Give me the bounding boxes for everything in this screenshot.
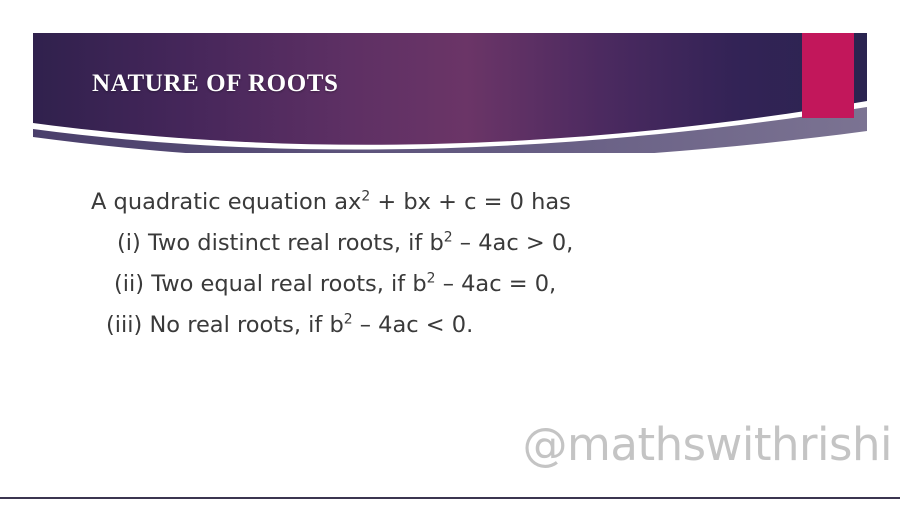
item-2-label: (ii) Two equal real roots, if b xyxy=(114,271,427,297)
intro-text-before: A quadratic equation ax xyxy=(91,189,361,215)
watermark-handle: @mathswithrishi xyxy=(523,418,892,471)
item-2-tail: – 4ac = 0, xyxy=(436,271,557,297)
item-2-exponent: 2 xyxy=(427,271,436,287)
item-1-label: (i) Two distinct real roots, if b xyxy=(117,230,444,256)
body-line-item-1: (i) Two distinct real roots, if b2 – 4ac… xyxy=(0,223,900,264)
item-1-exponent: 2 xyxy=(444,230,453,246)
page-title: NATURE OF ROOTS xyxy=(92,70,339,98)
item-3-exponent: 2 xyxy=(344,312,353,328)
intro-exponent: 2 xyxy=(361,189,370,205)
body-line-intro: A quadratic equation ax2 + bx + c = 0 ha… xyxy=(0,182,900,223)
intro-text-after: + bx + c = 0 has xyxy=(370,189,571,215)
body-text-block: A quadratic equation ax2 + bx + c = 0 ha… xyxy=(0,182,900,346)
item-3-label: (iii) No real roots, if b xyxy=(106,312,344,338)
slide-canvas: NATURE OF ROOTS A quadratic equation ax2… xyxy=(0,0,900,507)
body-line-item-2: (ii) Two equal real roots, if b2 – 4ac =… xyxy=(0,264,900,305)
item-3-tail: – 4ac < 0. xyxy=(353,312,474,338)
accent-bar xyxy=(802,33,854,118)
item-1-tail: – 4ac > 0, xyxy=(453,230,574,256)
body-line-item-3: (iii) No real roots, if b2 – 4ac < 0. xyxy=(0,305,900,346)
bottom-divider xyxy=(0,497,900,499)
